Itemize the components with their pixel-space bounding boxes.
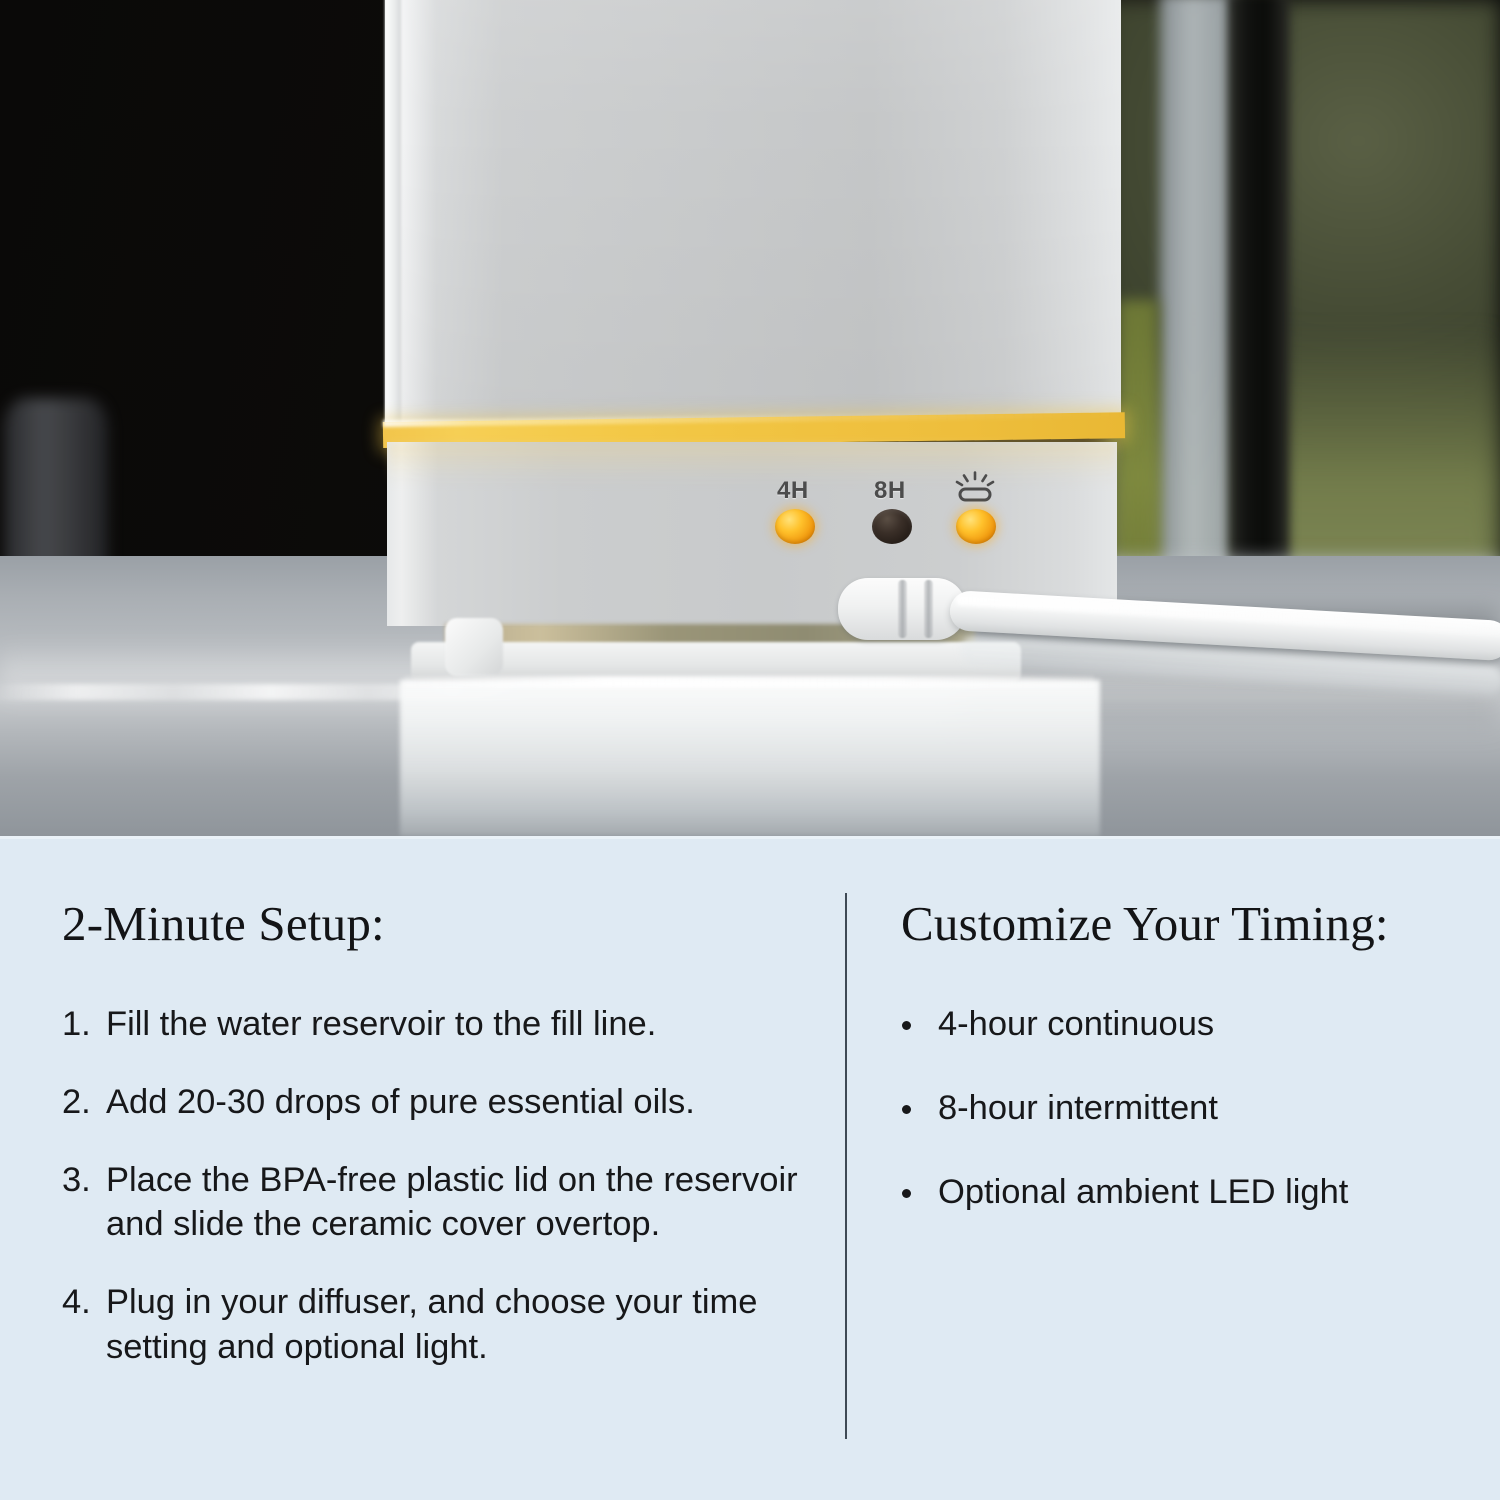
- 4h-indicator-led[interactable]: [775, 509, 815, 544]
- timing-column: Customize Your Timing: 4-hour continuous…: [898, 898, 1458, 1214]
- timing-features-list: 4-hour continuous 8-hour intermittent Op…: [898, 1002, 1458, 1215]
- bullet-dot-icon: [902, 1105, 911, 1114]
- step-number: 1.: [62, 1002, 102, 1047]
- step-text: Add 20-30 drops of pure essential oils.: [106, 1083, 695, 1121]
- diffuser-reflection-edge: [404, 676, 1094, 688]
- diffuser-device: 4H 8H: [385, 0, 1121, 640]
- setup-column: 2-Minute Setup: 1. Fill the water reserv…: [62, 898, 802, 1370]
- diffuser-reflection: [400, 680, 1100, 836]
- step-text: Fill the water reservoir to the fill lin…: [106, 1005, 656, 1043]
- step-number: 2.: [62, 1080, 102, 1125]
- timing-heading: Customize Your Timing:: [901, 898, 1458, 950]
- step-number: 4.: [62, 1280, 102, 1325]
- bullet-dot-icon: [902, 1021, 911, 1030]
- step-text: Place the BPA-free plastic lid on the re…: [106, 1161, 798, 1244]
- window-mullion: [1160, 0, 1234, 640]
- ceramic-cover-shading: [385, 0, 1121, 436]
- ceramic-cover-edge-highlight: [385, 0, 401, 436]
- connector-rib: [898, 580, 907, 638]
- label-8h: 8H: [874, 477, 906, 505]
- bullet-dot-icon: [902, 1189, 911, 1198]
- feature-text: 4-hour continuous: [938, 1005, 1214, 1043]
- product-photo: 4H 8H: [0, 0, 1500, 836]
- list-item: 8-hour intermittent: [898, 1086, 1458, 1131]
- step-number: 3.: [62, 1158, 102, 1203]
- setup-steps-list: 1. Fill the water reservoir to the fill …: [62, 1002, 802, 1370]
- list-item: 2. Add 20-30 drops of pure essential oil…: [62, 1080, 802, 1125]
- led-light-icon: [951, 471, 999, 507]
- label-4h: 4H: [777, 477, 809, 505]
- list-item: Optional ambient LED light: [898, 1170, 1458, 1215]
- connector-rib: [924, 580, 933, 638]
- list-item: 1. Fill the water reservoir to the fill …: [62, 1002, 802, 1047]
- window-frame: [1228, 0, 1290, 634]
- diffuser-base-warm-glow: [387, 442, 1117, 488]
- 8h-indicator-led[interactable]: [872, 509, 912, 544]
- step-text: Plug in your diffuser, and choose your t…: [106, 1283, 757, 1366]
- panel-top-edge: [0, 836, 1500, 839]
- column-divider: [845, 893, 847, 1439]
- light-indicator-led[interactable]: [956, 509, 996, 544]
- setup-heading: 2-Minute Setup:: [62, 898, 802, 950]
- feature-text: Optional ambient LED light: [938, 1173, 1348, 1211]
- list-item: 4-hour continuous: [898, 1002, 1458, 1047]
- list-item: 4. Plug in your diffuser, and choose you…: [62, 1280, 802, 1370]
- list-item: 3. Place the BPA-free plastic lid on the…: [62, 1158, 802, 1248]
- feature-text: 8-hour intermittent: [938, 1089, 1218, 1127]
- base-foot: [445, 618, 503, 676]
- infographic-canvas: 4H 8H: [0, 0, 1500, 1500]
- background-object-blurred: [4, 398, 108, 573]
